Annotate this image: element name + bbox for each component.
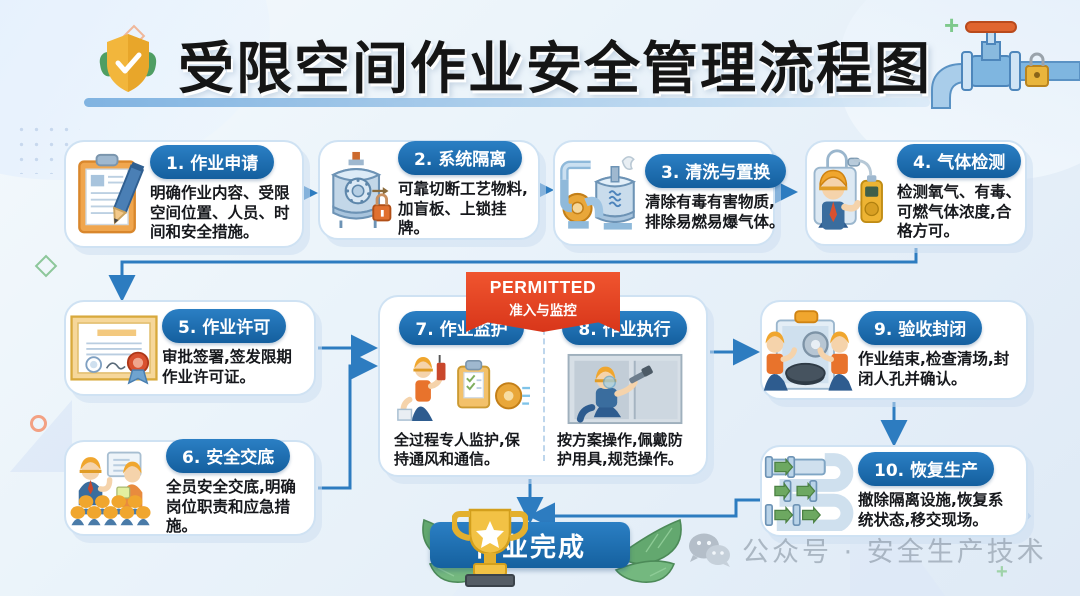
step-desc-7: 全过程专人监护,保持通风和通信。 <box>380 431 543 469</box>
step-desc-2: 可靠切断工艺物料,加盲板、上锁挂牌。 <box>398 180 530 239</box>
step-desc-9: 作业结束,检查清场,封闭人孔并确认。 <box>858 350 1018 390</box>
step-title-5: 5. 作业许可 <box>162 309 286 343</box>
step-title-6: 6. 安全交底 <box>166 439 290 473</box>
step-desc-6: 全员安全交底,明确岗位职责和应急措施。 <box>166 478 306 537</box>
step-desc-3: 清除有毒有害物质,排除易燃易爆气体。 <box>645 193 786 233</box>
gas-detector-worker-icon <box>807 146 897 240</box>
step-desc-1: 明确作业内容、受限空间位置、人员、时间和安全措施。 <box>150 184 294 243</box>
step-desc-4: 检测氧气、有毒、可燃气体浓度,合格方可。 <box>897 183 1021 242</box>
page-title: 受限空间作业安全管理流程图 <box>178 24 932 105</box>
ribbon-cn-label: 准入与监控 <box>466 299 620 319</box>
step-desc-5: 审批签署,签发限期作业许可证。 <box>162 348 306 388</box>
step-card-6[interactable]: 6. 安全交底 全员安全交底,明确岗位职责和应急措施。 <box>64 440 316 536</box>
step-card-8[interactable]: 8. 作业执行 <box>543 311 706 469</box>
manhole-closure-icon <box>762 305 858 395</box>
ribbon-en-label: PERMITTED <box>466 277 620 298</box>
step-card-5-body: 5. 作业许可 审批签署,签发限期作业许可证。 <box>162 309 314 388</box>
wechat-icon <box>688 533 732 567</box>
step-card-10-body: 10. 恢复生产 撤除隔离设施,恢复系统状态,移交现场。 <box>858 452 1026 531</box>
watermark: 公众号 · 安全生产技术 <box>688 530 1047 569</box>
trophy-icon <box>452 504 528 588</box>
step-desc-8: 按方案操作,佩戴防护用具,规范操作。 <box>543 431 706 469</box>
step-desc-10: 撤除隔离设施,恢复系统状态,移交现场。 <box>858 491 1018 531</box>
step-card-2[interactable]: 2. 系统隔离 可靠切断工艺物料,加盲板、上锁挂牌。 <box>318 140 540 240</box>
step-card-4[interactable]: 4. 气体检测 检测氧气、有毒、可燃气体浓度,合格方可。 <box>805 140 1027 246</box>
title-underline <box>84 98 930 107</box>
permitted-panel[interactable]: PERMITTED 准入与监控 7. 作业监护 <box>378 295 708 477</box>
tank-lockout-icon <box>320 146 398 234</box>
tank-purge-blower-icon <box>555 147 645 239</box>
worker-in-vessel-icon <box>543 353 706 425</box>
pipe-valve-lock-icon <box>908 18 1080 110</box>
step-card-1-body: 1. 作业申请 明确作业内容、受限空间位置、人员、时间和安全措施。 <box>150 145 302 243</box>
watermark-text: 公众号 · 安全生产技术 <box>742 530 1047 569</box>
header: 受限空间作业安全管理流程图 <box>0 0 1080 118</box>
step-card-6-body: 6. 安全交底 全员安全交底,明确岗位职责和应急措施。 <box>166 439 314 537</box>
step-title-10: 10. 恢复生产 <box>858 452 994 486</box>
bg-ring-orange <box>30 415 47 432</box>
shield-check-icon <box>96 30 160 100</box>
step-card-10[interactable]: 10. 恢复生产 撤除隔离设施,恢复系统状态,移交现场。 <box>760 445 1028 537</box>
infographic-canvas: + + 受限空间作业安全管理流程图 <box>0 0 1080 596</box>
bg-diamond-green <box>35 255 58 278</box>
certificate-icon <box>66 310 162 386</box>
step-card-5[interactable]: 5. 作业许可 审批签署,签发限期作业许可证。 <box>64 300 316 396</box>
step-title-3: 3. 清洗与置换 <box>645 154 786 188</box>
step-card-3-body: 3. 清洗与置换 清除有毒有害物质,排除易燃易爆气体。 <box>645 154 794 233</box>
step-card-2-body: 2. 系统隔离 可靠切断工艺物料,加盲板、上锁挂牌。 <box>398 141 538 239</box>
bg-triangle-left <box>10 400 72 472</box>
step-card-7[interactable]: 7. 作业监护 <box>380 311 543 469</box>
step-card-1[interactable]: 1. 作业申请 明确作业内容、受限空间位置、人员、时间和安全措施。 <box>64 140 304 248</box>
step-title-4: 4. 气体检测 <box>897 144 1021 178</box>
clipboard-pen-icon <box>66 148 150 240</box>
step-title-1: 1. 作业申请 <box>150 145 274 179</box>
step-title-9: 9. 验收封闭 <box>858 311 982 345</box>
pipe-flow-restore-icon <box>762 451 858 531</box>
supervisor-radio-icon <box>380 353 543 425</box>
step-card-9-body: 9. 验收封闭 作业结束,检查清场,封闭人孔并确认。 <box>858 311 1026 390</box>
step-title-2: 2. 系统隔离 <box>398 141 522 175</box>
step-card-9[interactable]: 9. 验收封闭 作业结束,检查清场,封闭人孔并确认。 <box>760 300 1028 400</box>
step-card-4-body: 4. 气体检测 检测氧气、有毒、可燃气体浓度,合格方可。 <box>897 144 1029 242</box>
safety-briefing-icon <box>66 448 166 528</box>
step-card-3[interactable]: 3. 清洗与置换 清除有毒有害物质,排除易燃易爆气体。 <box>553 140 775 246</box>
